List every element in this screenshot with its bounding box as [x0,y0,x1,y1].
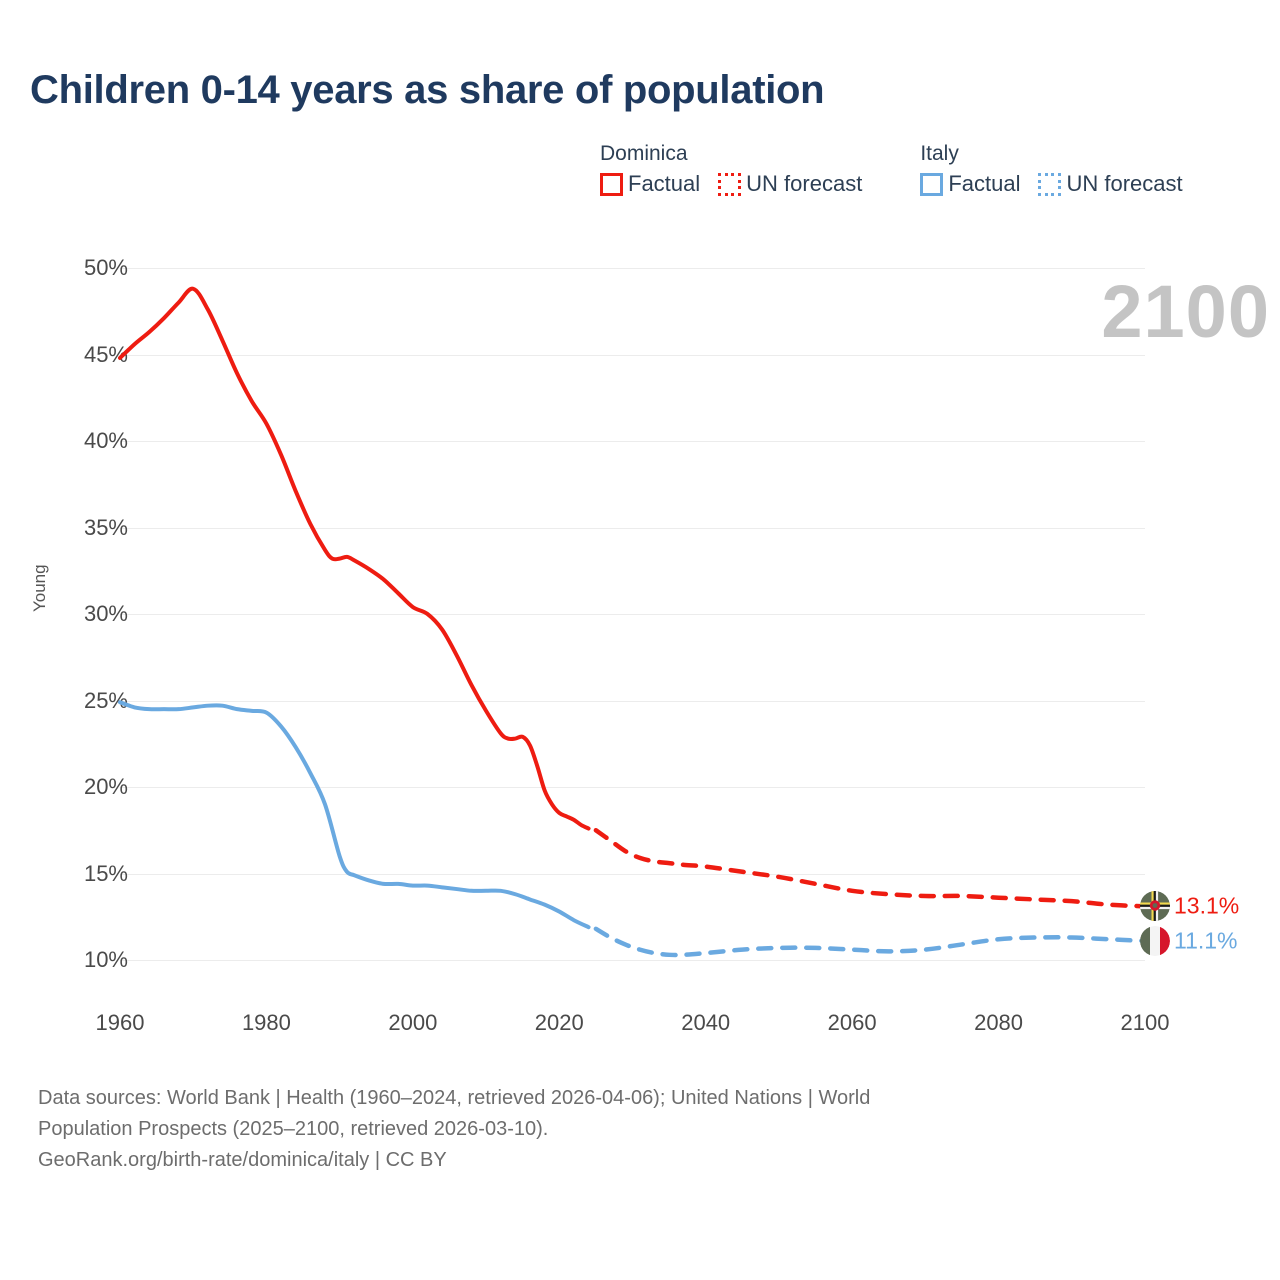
series-line-italy-forecast [596,929,1145,955]
series-end-value-dominica: 13.1% [1174,893,1239,920]
footer-notes: Data sources: World Bank | Health (1960–… [38,1083,1168,1176]
series-line-dominica-forecast [596,830,1145,906]
chart-root: Children 0-14 years as share of populati… [0,0,1280,1280]
footer-line-2: Population Prospects (2025–2100, retriev… [38,1114,1168,1145]
series-end-value-italy: 11.1% [1174,927,1238,954]
series-line-dominica-factual [120,289,589,829]
footer-line-3: GeoRank.org/birth-rate/dominica/italy | … [38,1145,1168,1176]
flag-marker-italy-icon [1140,926,1170,956]
flag-marker-dominica-icon [1140,891,1170,921]
footer-line-1: Data sources: World Bank | Health (1960–… [38,1083,1168,1114]
